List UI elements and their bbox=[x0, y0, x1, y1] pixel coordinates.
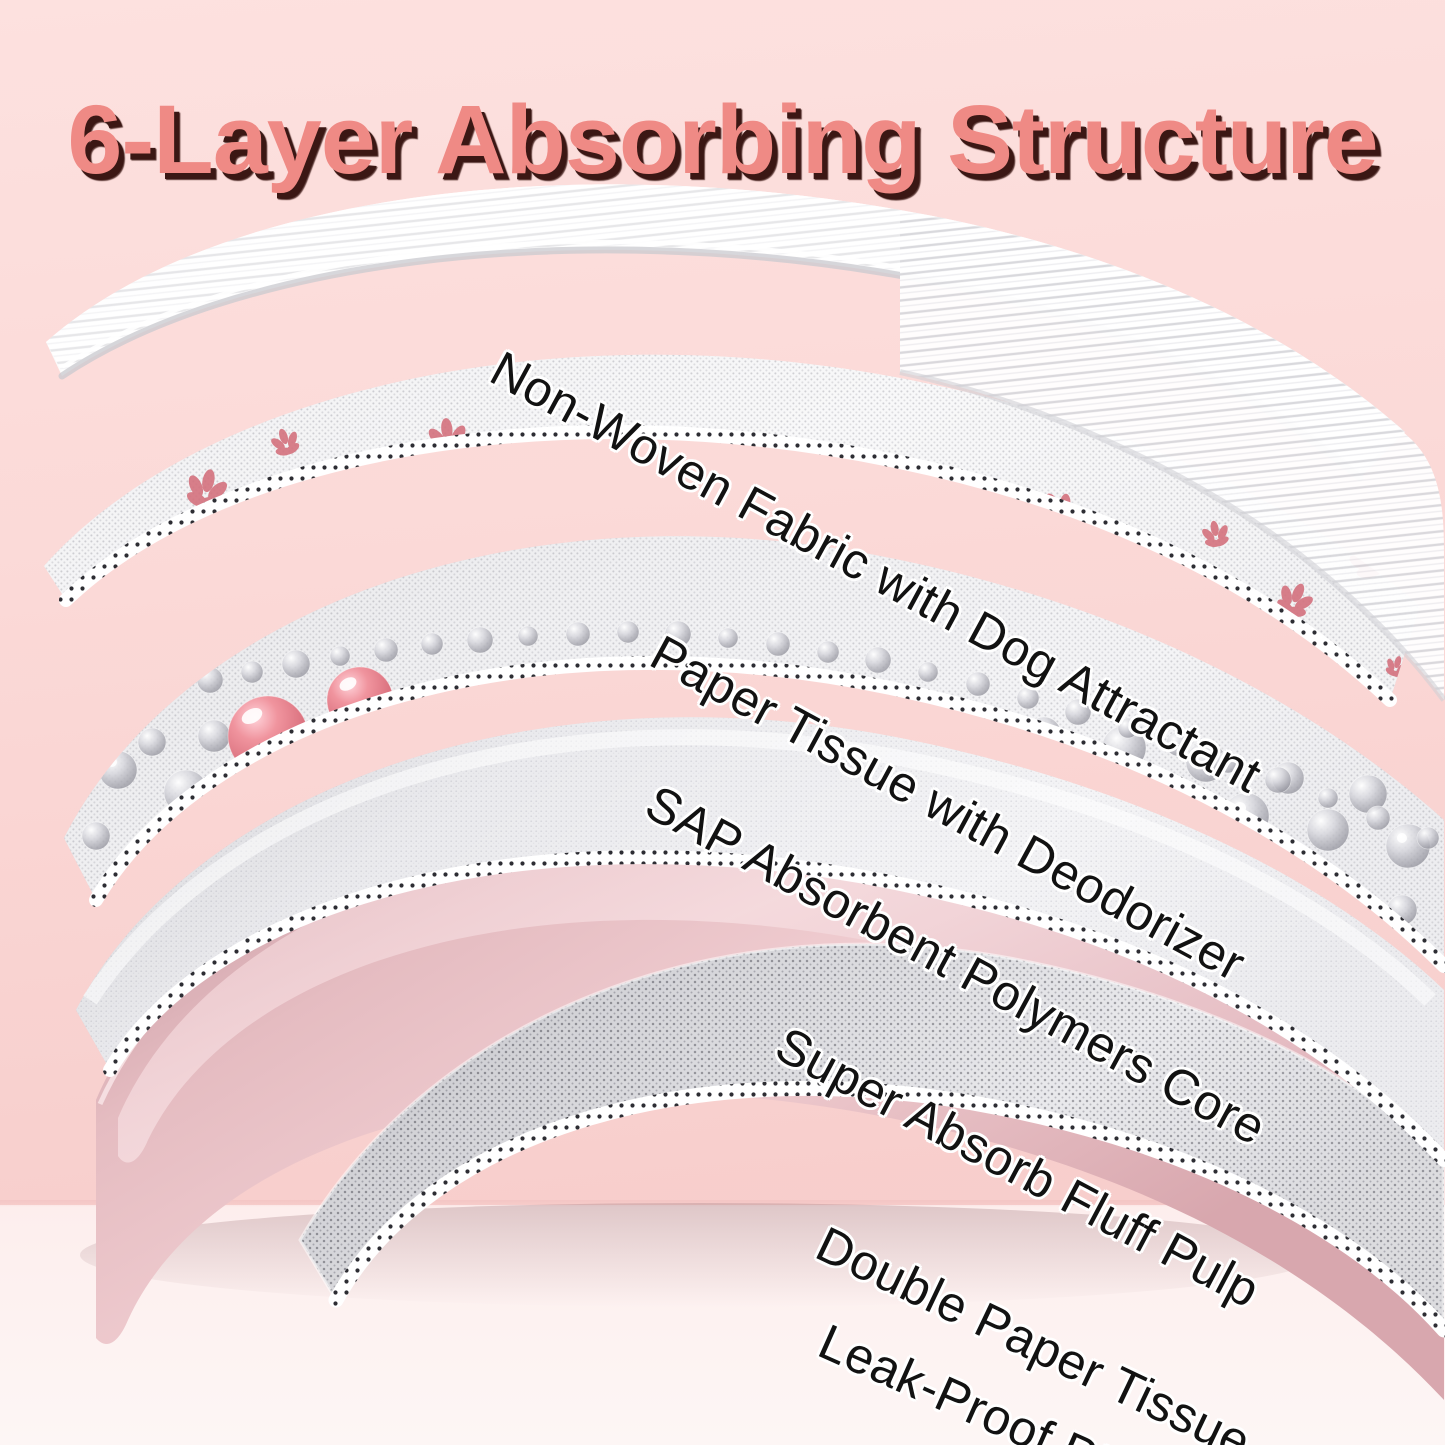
layer-stack-illustration bbox=[0, 0, 1445, 1445]
infographic-canvas: 6-Layer Absorbing Structure bbox=[0, 0, 1445, 1445]
